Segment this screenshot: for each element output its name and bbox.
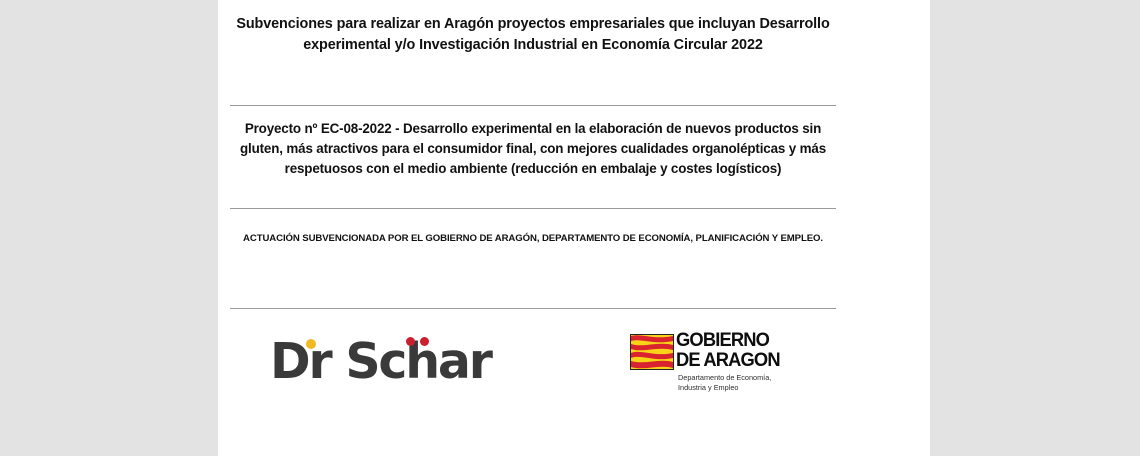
dr-schar-umlaut-right-icon — [420, 337, 429, 346]
project-description: Proyecto nº EC-08-2022 - Desarrollo expe… — [230, 119, 836, 179]
page-title-line-1: Subvenciones para realizar en Aragón pro… — [236, 16, 694, 32]
aragon-wordmark-line-2: DE ARAGON — [676, 350, 780, 370]
dr-schar-text-schar: Schar — [345, 333, 490, 390]
page-title-line-3: Circular 2022 — [674, 37, 763, 53]
page-title: Subvenciones para realizar en Aragón pro… — [230, 14, 836, 56]
dr-schar-dot-icon — [306, 339, 316, 349]
aragon-flag-emblem-icon — [630, 334, 674, 370]
aragon-department-line-1: Departamento de Economía, — [678, 373, 771, 383]
dr-schar-logo: Dr Schar — [262, 332, 482, 396]
project-number: Proyecto nº EC-08-2022 — [245, 121, 392, 136]
aragon-wordmark-line-1: GOBIERNO — [676, 330, 780, 350]
divider-middle — [230, 208, 836, 209]
funding-notice-line-1: ACTUACIÓN SUBVENCIONADA POR EL GOBIERNO … — [243, 233, 693, 244]
aragon-wordmark: GOBIERNO DE ARAGON — [676, 330, 780, 370]
funding-notice: ACTUACIÓN SUBVENCIONADA POR EL GOBIERNO … — [230, 232, 836, 246]
gobierno-de-aragon-logo: GOBIERNO DE ARAGON Departamento de Econo… — [630, 330, 805, 400]
aragon-department-line-2: Industria y Empleo — [678, 383, 771, 393]
logo-row: Dr Schar GOBIERNO DE ARAGON — [230, 322, 836, 408]
divider-top — [230, 105, 836, 106]
aragon-department-text: Departamento de Economía, Industria y Em… — [678, 373, 771, 393]
dr-schar-text-dr: Dr — [270, 333, 330, 390]
dr-schar-umlaut-left-icon — [406, 337, 415, 346]
dr-schar-wordmark: Dr Schar — [270, 332, 491, 392]
funding-notice-line-2: PLANIFICACIÓN Y EMPLEO. — [696, 233, 823, 244]
document-page: Subvenciones para realizar en Aragón pro… — [218, 0, 930, 456]
divider-bottom — [230, 308, 836, 309]
